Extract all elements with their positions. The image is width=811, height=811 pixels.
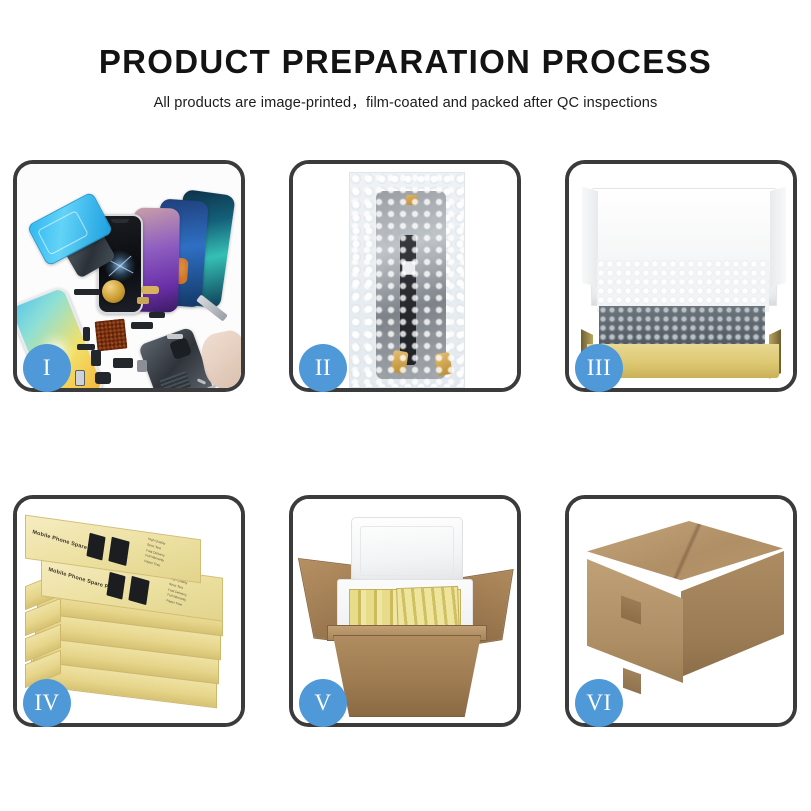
- connector-square: [402, 261, 416, 275]
- step-card-4: Mobile Phone Spare Parts High QualityStr…: [13, 495, 245, 727]
- box-product-photo: [108, 537, 129, 566]
- part-chip: [167, 334, 183, 339]
- foam-box-lid: [351, 517, 463, 585]
- step-badge-4: IV: [23, 679, 71, 727]
- tape-patch: [623, 668, 641, 695]
- bubble-wrap-bag: [349, 172, 465, 388]
- process-step-grid: I II: [13, 160, 798, 727]
- box-product-photo: [86, 533, 105, 561]
- flex-cable: [400, 235, 416, 365]
- gold-connector: [434, 352, 452, 376]
- part-chip: [113, 358, 133, 368]
- step-card-3: III: [565, 160, 797, 392]
- step-card-5: V: [289, 495, 521, 727]
- header: PRODUCT PREPARATION PROCESS All products…: [0, 0, 811, 112]
- part-chip: [91, 350, 101, 366]
- part-chip: [137, 297, 149, 304]
- part-chip: [141, 286, 159, 294]
- page-subtitle: All products are image-printed，film-coat…: [0, 91, 811, 112]
- poster-root: PRODUCT PREPARATION PROCESS All products…: [0, 0, 811, 811]
- step-card-1: I: [13, 160, 245, 392]
- step-badge-2: II: [299, 344, 347, 392]
- bubble-wrap-fill: [599, 306, 765, 348]
- box-spec-lines: High QualityStrict TestFast DeliveryFull…: [144, 537, 167, 570]
- phone-notch: [111, 219, 129, 223]
- part-chip: [137, 360, 147, 372]
- part-chip: [83, 327, 90, 341]
- part-chip: [131, 322, 153, 329]
- step-card-2: II: [289, 160, 521, 392]
- part-chip: [95, 372, 111, 384]
- step-badge-5: V: [299, 679, 347, 727]
- foam-backdrop: [597, 260, 769, 312]
- part-chip: [75, 370, 85, 386]
- part-chip: [149, 312, 165, 318]
- copper-grid-board: [95, 319, 128, 352]
- box-product-photo: [128, 576, 149, 605]
- step-badge-6: VI: [575, 679, 623, 727]
- part-chip: [74, 289, 100, 295]
- step-card-6: VI: [565, 495, 797, 727]
- carton-body: [333, 635, 481, 717]
- screws-group: [197, 380, 223, 388]
- page-title: PRODUCT PREPARATION PROCESS: [0, 44, 811, 80]
- speaker-disc: [102, 280, 125, 303]
- gold-tab-top: [406, 195, 418, 205]
- step-badge-1: I: [23, 344, 71, 392]
- box-product-photo: [106, 572, 125, 600]
- step-badge-3: III: [575, 344, 623, 392]
